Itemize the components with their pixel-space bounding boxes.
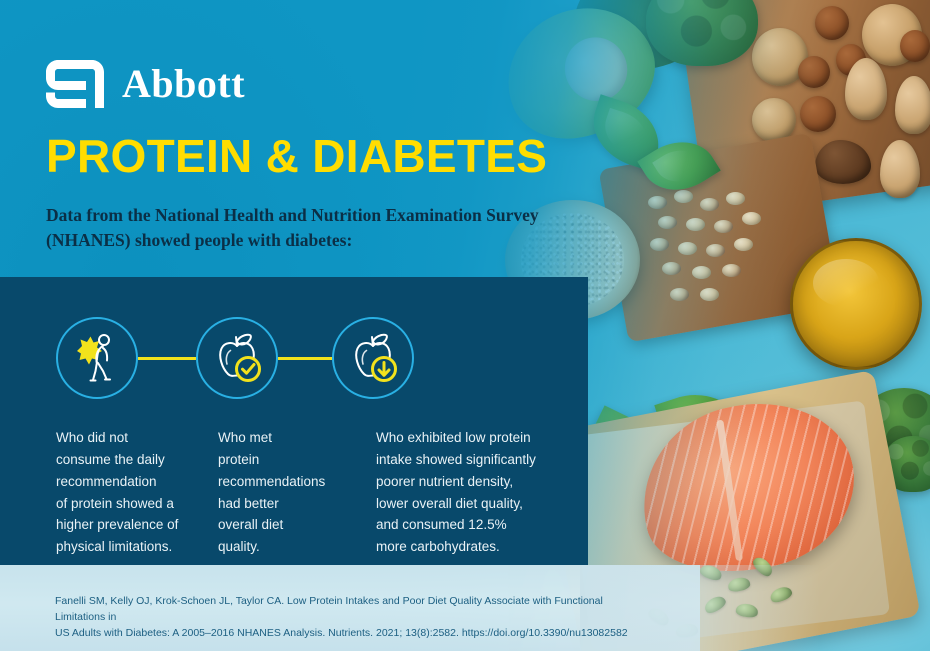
finding-text-2: Who met protein recommendations had bett…: [218, 427, 376, 558]
finding-text-3: Who exhibited low protein intake showed …: [376, 427, 566, 558]
findings-icon-row: [56, 317, 414, 399]
brand-name: Abbott: [122, 64, 245, 104]
finding-text-1: Who did not consume the daily recommenda…: [56, 427, 218, 558]
connector-line-1: [138, 357, 196, 360]
poster-content: Abbott PROTEIN & DIABETES Data from the …: [0, 0, 930, 651]
page-subtitle: Data from the National Health and Nutrit…: [46, 203, 556, 254]
finding-icon-3: [332, 317, 414, 399]
apple-check-icon: [209, 330, 265, 386]
finding-icon-2: [196, 317, 278, 399]
findings-text-columns: Who did not consume the daily recommenda…: [56, 427, 566, 558]
person-walking-pain-icon: [68, 329, 126, 387]
page-title: PROTEIN & DIABETES: [46, 132, 547, 180]
findings-panel: Who did not consume the daily recommenda…: [0, 277, 588, 565]
connector-line-2: [278, 357, 332, 360]
infographic-poster: Abbott PROTEIN & DIABETES Data from the …: [0, 0, 930, 651]
check-badge: [237, 358, 260, 381]
apple-down-arrow-icon: [345, 330, 401, 386]
finding-icon-1: [56, 317, 138, 399]
citation-text: Fanelli SM, Kelly OJ, Krok-Schoen JL, Ta…: [55, 594, 635, 641]
brand-logo: Abbott: [46, 58, 245, 110]
abbott-a-symbol-icon: [46, 58, 106, 110]
